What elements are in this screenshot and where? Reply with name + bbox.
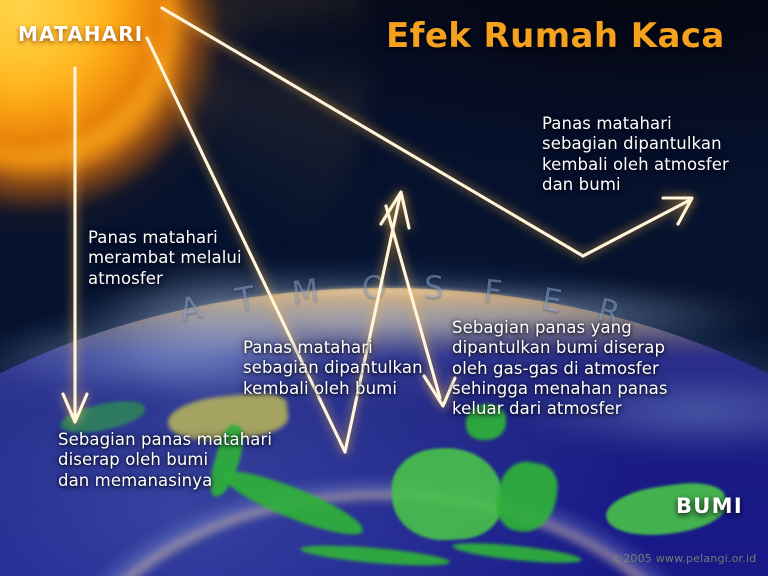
arrow-reflected-by-earth: [345, 196, 400, 452]
arrow-reflected-by-atmosphere: [583, 200, 690, 256]
annotation-absorbed-by-earth: Sebagian panas mataharidiserap oleh bumi…: [58, 430, 272, 491]
copyright-notice: ©2005 www.pelangi.or.id: [612, 552, 756, 565]
annotation-incoming: Panas mataharimerambat melaluiatmosfer: [88, 228, 242, 289]
label-earth: BUMI: [676, 494, 743, 518]
label-sun: MATAHARI: [18, 22, 143, 46]
page-title: Efek Rumah Kaca: [386, 16, 725, 56]
annotation-reflected-by-atmosphere: Panas mataharisebagian dipantulkankembal…: [542, 114, 729, 195]
annotation-reflected-by-earth: Panas mataharisebagian dipantulkankembal…: [243, 338, 423, 399]
greenhouse-effect-infographic: A T M O S F E R: [0, 0, 768, 576]
annotation-trapped-by-gases: Sebagian panas yangdipantulkan bumi dise…: [452, 318, 668, 419]
